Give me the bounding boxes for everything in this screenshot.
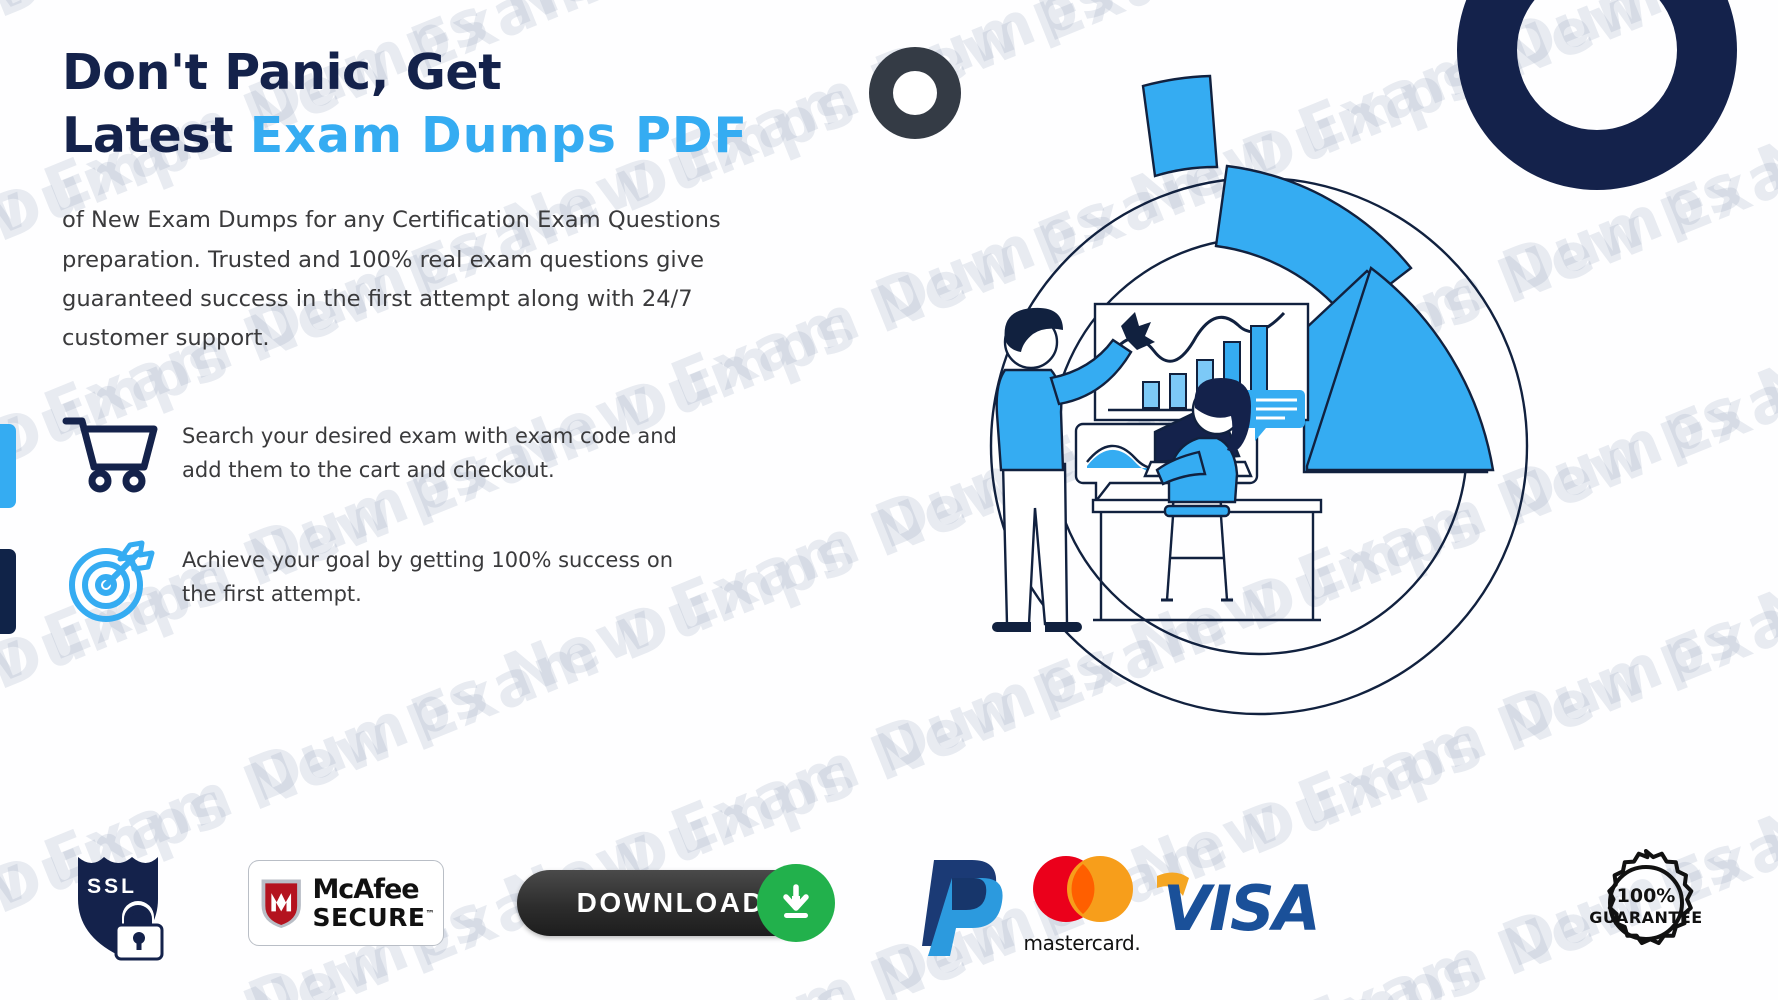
mastercard-wordmark: mastercard. bbox=[1024, 931, 1141, 955]
download-button[interactable]: DOWNLOAD bbox=[517, 870, 817, 936]
mcafee-shield-icon bbox=[257, 866, 305, 940]
download-button-wrap[interactable]: DOWNLOAD bbox=[517, 835, 817, 970]
shopping-cart-icon bbox=[62, 413, 182, 493]
left-content-column: Don't Panic, Get Latest Exam Dumps PDF o… bbox=[62, 42, 822, 667]
guarantee-percent: 100% bbox=[1617, 885, 1676, 907]
ssl-label: SSL bbox=[87, 875, 137, 898]
page-title: Don't Panic, Get Latest Exam Dumps PDF bbox=[62, 42, 822, 167]
stool-icon bbox=[1161, 488, 1233, 600]
ssl-shield-lock-icon: SSL bbox=[68, 843, 178, 963]
banner-canvas: New Exam Dumps New Exam Dumps New Exam D… bbox=[0, 0, 1778, 1000]
donut-segment-small bbox=[1143, 76, 1217, 176]
mcafee-line-2: SECURE™ bbox=[312, 905, 435, 930]
ssl-badge: SSL bbox=[68, 835, 178, 970]
mcafee-secure-badge: McAfee SECURE™ bbox=[248, 835, 444, 970]
feature-item-target-text: Achieve your goal by getting 100% succes… bbox=[182, 537, 702, 611]
guarantee-seal-icon: 100% GUARANTEE bbox=[1588, 845, 1704, 961]
headline-line-2-highlight: Exam Dumps PDF bbox=[250, 107, 748, 164]
trust-badge-strip: SSL McAfee SECURE bbox=[0, 835, 1778, 970]
visa-badge: VISA bbox=[1155, 835, 1345, 970]
accent-bar-navy bbox=[0, 549, 16, 634]
download-arrow-icon[interactable] bbox=[757, 864, 835, 942]
target-dartboard-icon bbox=[62, 537, 182, 623]
mcafee-tm: ™ bbox=[426, 909, 436, 919]
guarantee-badge: 100% GUARANTEE bbox=[1588, 835, 1704, 970]
headline-line-1: Don't Panic, Get bbox=[62, 44, 501, 101]
paypal-badge bbox=[912, 835, 1012, 970]
desk-icon bbox=[1093, 500, 1321, 620]
hero-illustration bbox=[855, 0, 1778, 770]
feature-item-target: Achieve your goal by getting 100% succes… bbox=[62, 537, 822, 623]
lead-paragraph: of New Exam Dumps for any Certification … bbox=[62, 201, 752, 358]
paypal-logo-icon bbox=[912, 848, 1012, 958]
visa-logo-icon: VISA bbox=[1155, 858, 1345, 948]
mastercard-badge: mastercard. bbox=[1022, 835, 1142, 970]
headline-line-2-plain: Latest bbox=[62, 107, 250, 164]
mcafee-line-1: McAfee bbox=[312, 876, 435, 903]
visa-wordmark: VISA bbox=[1163, 872, 1319, 945]
accent-bar-blue bbox=[0, 424, 16, 508]
mastercard-logo-icon bbox=[1022, 850, 1142, 928]
feature-item-cart-text: Search your desired exam with exam code … bbox=[182, 413, 702, 487]
guarantee-label: GUARANTEE bbox=[1589, 908, 1702, 927]
feature-item-cart: Search your desired exam with exam code … bbox=[62, 413, 822, 493]
feature-list: Search your desired exam with exam code … bbox=[62, 413, 822, 623]
small-dark-donut-icon bbox=[869, 47, 961, 139]
dark-corner-ring-icon bbox=[1457, 0, 1737, 190]
